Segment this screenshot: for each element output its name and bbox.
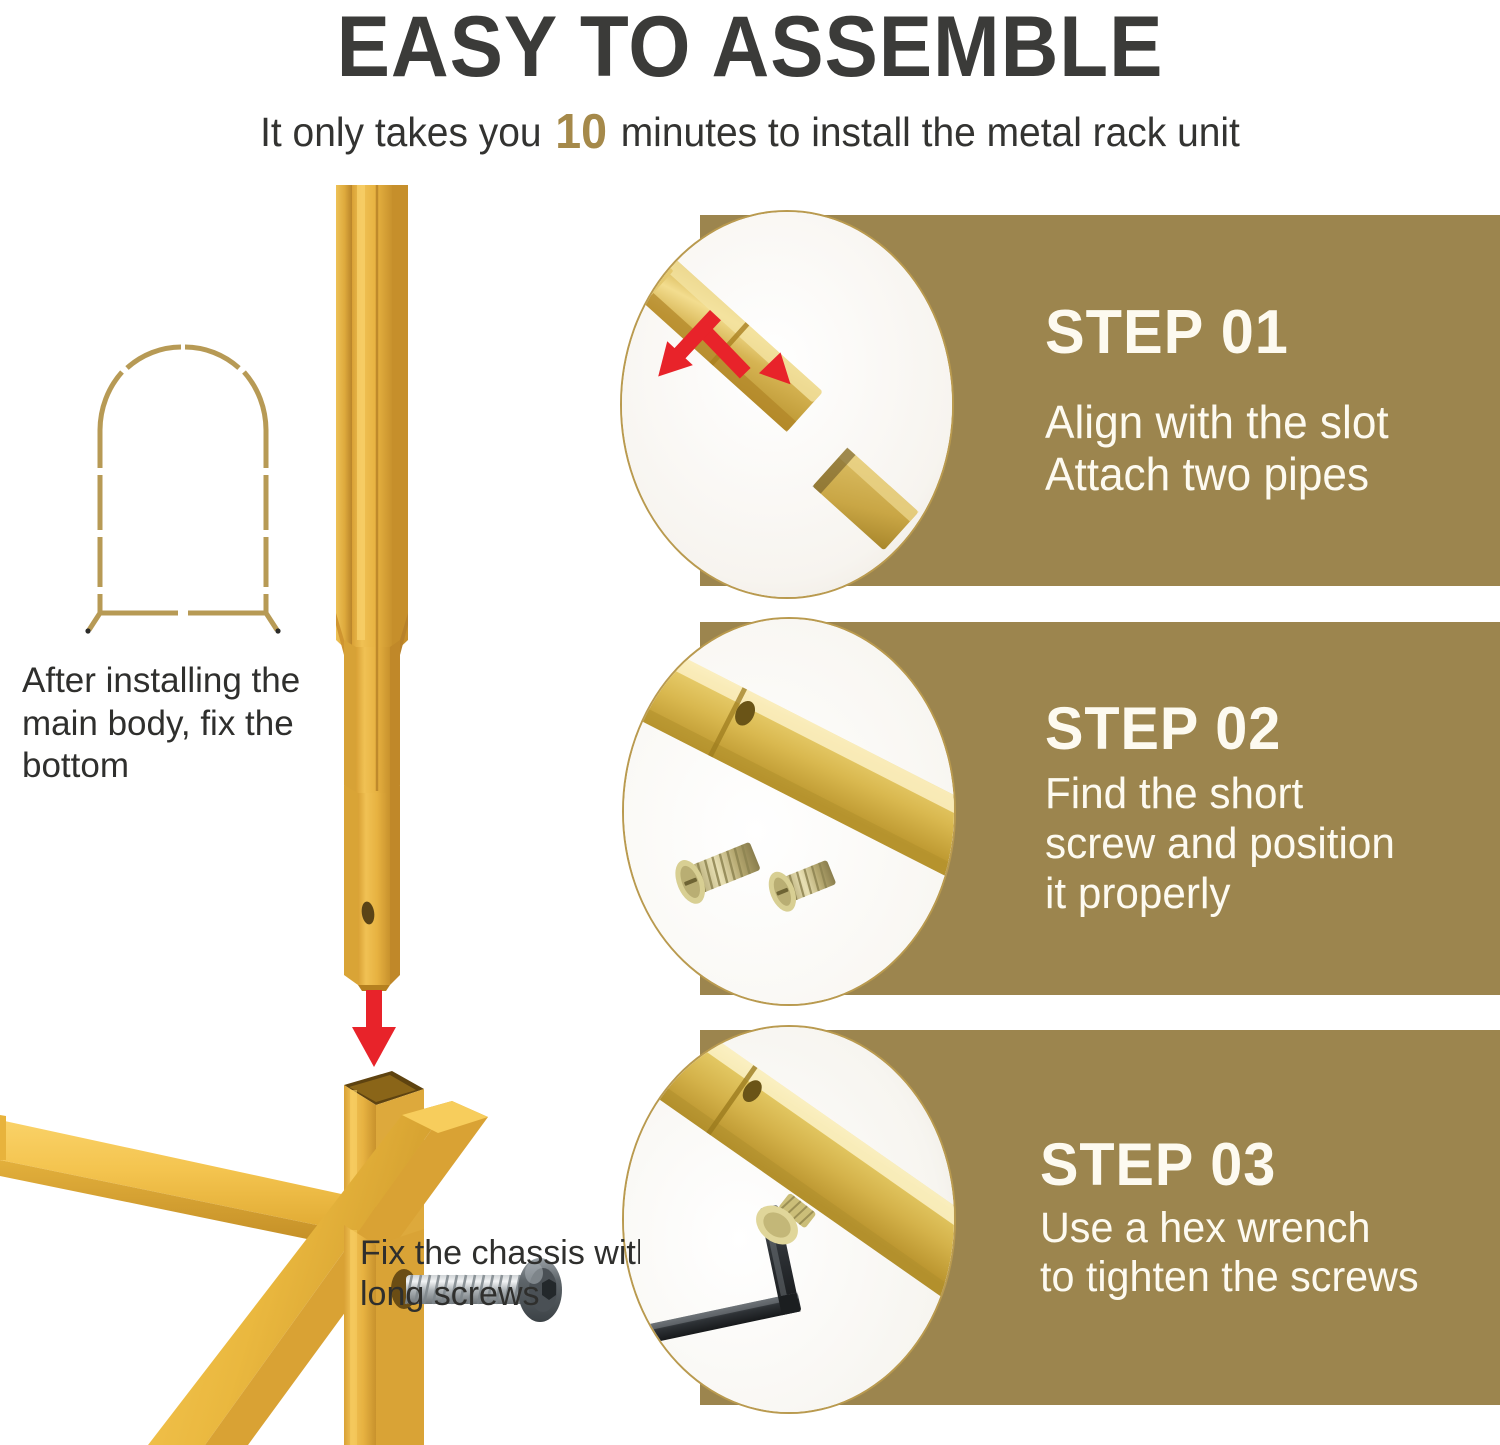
step-01-body-line1: Align with the slot <box>1045 396 1465 448</box>
step-01-heading: STEP 01 <box>1045 300 1465 366</box>
step-03-heading: STEP 03 <box>1040 1133 1476 1197</box>
pipe-slot-alignment-photo <box>620 210 954 599</box>
hex-wrench-photo <box>622 1025 956 1414</box>
short-screws-photo <box>622 617 956 1006</box>
chassis-caption: Fix the chassis with long screws <box>360 1233 640 1316</box>
step-01-body: Align with the slot Attach two pipes <box>1045 396 1465 501</box>
step-03-body-line1: Use a hex wrench <box>1040 1204 1476 1253</box>
subtitle: It only takes you 10 minutes to install … <box>38 104 1463 160</box>
step-03-text-block: STEP 03 Use a hex wrench to tighten the … <box>1040 1030 1494 1405</box>
assembly-illustration: After installing the main body, fix the … <box>0 185 640 1445</box>
minutes-number: 10 <box>552 105 609 159</box>
step-02-body-line1: Find the short <box>1045 769 1465 819</box>
step-02-body-line2: screw and position <box>1045 819 1465 869</box>
page-title: EASY TO ASSEMBLE <box>53 0 1448 97</box>
step-01-text-block: STEP 01 Align with the slot Attach two p… <box>1045 215 1482 586</box>
step-02-heading: STEP 02 <box>1045 697 1465 761</box>
step-02-text-block: STEP 02 Find the short screw and positio… <box>1045 622 1482 995</box>
header: EASY TO ASSEMBLE It only takes you 10 mi… <box>0 0 1500 185</box>
step-03-body: Use a hex wrench to tighten the screws <box>1040 1204 1476 1302</box>
step-03-body-line2: to tighten the screws <box>1040 1253 1476 1302</box>
assembly-direction-arrow <box>352 990 396 1067</box>
step-01-body-line2: Attach two pipes <box>1045 448 1465 500</box>
step-02-body: Find the short screw and position it pro… <box>1045 769 1465 919</box>
subtitle-before-text: It only takes you <box>260 109 541 155</box>
step-02-body-line3: it properly <box>1045 869 1465 919</box>
subtitle-after-text: minutes to install the metal rack unit <box>621 109 1240 155</box>
